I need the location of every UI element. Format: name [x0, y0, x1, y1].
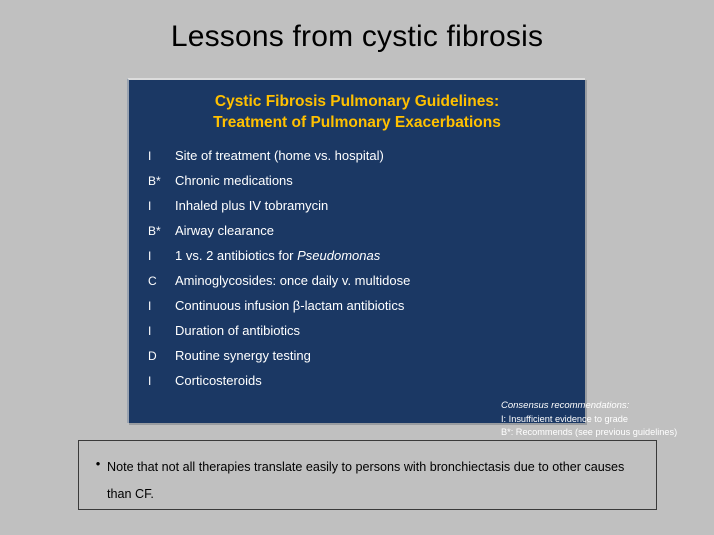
recommendation-text-main: Site of treatment (home vs. hospital) [175, 148, 384, 163]
page-title: Lessons from cystic fibrosis [0, 18, 714, 56]
note-text: Note that not all therapies translate ea… [107, 454, 642, 508]
consensus-legend-item: I: Insufficient evidence to grade [501, 413, 713, 426]
recommendation-text: Airway clearance [175, 223, 274, 238]
recommendation-row: I 1 vs. 2 antibiotics for Pseudomonas [129, 248, 587, 273]
recommendation-row: I Duration of antibiotics [129, 323, 587, 348]
recommendation-grade: I [129, 324, 175, 338]
recommendation-row: I Continuous infusion β-lactam antibioti… [129, 298, 587, 323]
recommendation-text: Site of treatment (home vs. hospital) [175, 148, 384, 163]
panel-heading-line2: Treatment of Pulmonary Exacerbations [147, 112, 567, 133]
recommendation-text: 1 vs. 2 antibiotics for Pseudomonas [175, 248, 380, 263]
note-box: • Note that not all therapies translate … [78, 440, 657, 510]
recommendation-text-main: Chronic medications [175, 173, 293, 188]
recommendation-text: Aminoglycosides: once daily v. multidose [175, 273, 410, 288]
recommendation-text-main: Continuous infusion β-lactam antibiotics [175, 298, 404, 313]
recommendation-row: I Site of treatment (home vs. hospital) [129, 148, 587, 173]
recommendation-text-main: Airway clearance [175, 223, 274, 238]
recommendation-grade: I [129, 299, 175, 313]
recommendation-row: B* Chronic medications [129, 173, 587, 198]
consensus-legend-title: Consensus recommendations: [501, 399, 713, 412]
note-list-item: • Note that not all therapies translate … [79, 441, 656, 508]
recommendation-list: I Site of treatment (home vs. hospital) … [129, 148, 587, 398]
guideline-panel: Cystic Fibrosis Pulmonary Guidelines: Tr… [127, 78, 585, 423]
recommendation-text-main: Aminoglycosides: once daily v. multidose [175, 273, 410, 288]
recommendation-text-main: Routine synergy testing [175, 348, 311, 363]
recommendation-row: D Routine synergy testing [129, 348, 587, 373]
recommendation-row: I Inhaled plus IV tobramycin [129, 198, 587, 223]
recommendation-text-main: Corticosteroids [175, 373, 262, 388]
recommendation-row: C Aminoglycosides: once daily v. multido… [129, 273, 587, 298]
recommendation-grade: I [129, 199, 175, 213]
recommendation-text: Routine synergy testing [175, 348, 311, 363]
recommendation-text-main: Inhaled plus IV tobramycin [175, 198, 328, 213]
consensus-legend-item: B*: Recommends (see previous guidelines) [501, 426, 713, 439]
recommendation-grade: D [129, 349, 175, 363]
recommendation-row: I Corticosteroids [129, 373, 587, 398]
bullet-icon: • [89, 454, 107, 474]
recommendation-grade: I [129, 149, 175, 163]
recommendation-grade: I [129, 374, 175, 388]
panel-heading-line1: Cystic Fibrosis Pulmonary Guidelines: [215, 93, 499, 110]
recommendation-grade: C [129, 274, 175, 288]
recommendation-grade: B* [129, 224, 175, 238]
panel-heading: Cystic Fibrosis Pulmonary Guidelines: Tr… [147, 91, 567, 133]
recommendation-text: Duration of antibiotics [175, 323, 300, 338]
recommendation-grade: I [129, 249, 175, 263]
recommendation-text-main: Duration of antibiotics [175, 323, 300, 338]
recommendation-text: Chronic medications [175, 173, 293, 188]
recommendation-text: Continuous infusion β-lactam antibiotics [175, 298, 404, 313]
recommendation-row: B* Airway clearance [129, 223, 587, 248]
recommendation-text-main: 1 vs. 2 antibiotics for [175, 248, 297, 263]
recommendation-text: Corticosteroids [175, 373, 262, 388]
recommendation-text: Inhaled plus IV tobramycin [175, 198, 328, 213]
recommendation-grade: B* [129, 174, 175, 188]
recommendation-text-italic: Pseudomonas [297, 248, 380, 263]
